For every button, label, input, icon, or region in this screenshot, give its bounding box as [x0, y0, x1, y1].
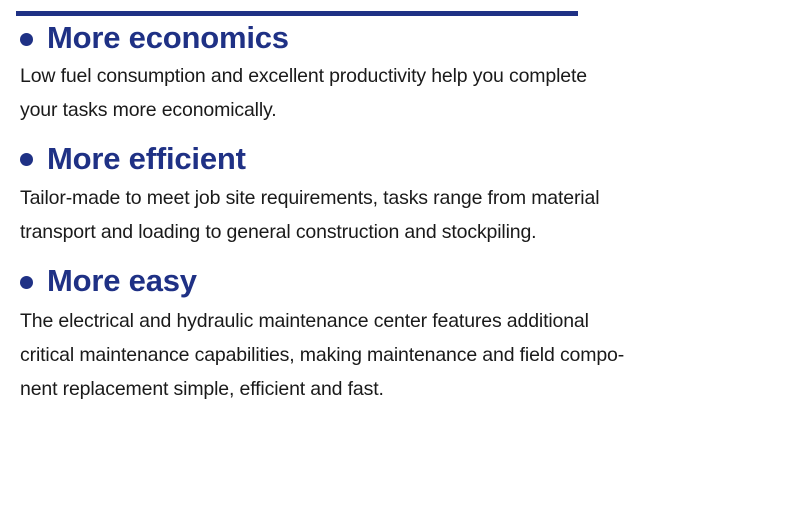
- bullet-point-icon: [20, 33, 33, 46]
- body-line: your tasks more economically.: [20, 93, 772, 127]
- heading-row: More efficient: [20, 143, 782, 176]
- section-more-efficient: More efficient Tailor-made to meet job s…: [0, 143, 800, 250]
- body-line: The electrical and hydraulic maintenance…: [20, 304, 772, 338]
- section-more-economics: More economics Low fuel consumption and …: [0, 22, 800, 127]
- section-body: Low fuel consumption and excellent produ…: [20, 59, 772, 127]
- section-body: The electrical and hydraulic maintenance…: [20, 304, 772, 406]
- body-line: transport and loading to general constru…: [20, 215, 772, 249]
- section-more-easy: More easy The electrical and hydraulic m…: [0, 265, 800, 406]
- heading-row: More economics: [20, 22, 782, 55]
- body-line: Low fuel consumption and excellent produ…: [20, 59, 772, 93]
- body-line: critical maintenance capabilities, makin…: [20, 338, 772, 372]
- section-heading: More easy: [47, 265, 197, 298]
- section-heading: More efficient: [47, 143, 246, 176]
- bullet-point-icon: [20, 153, 33, 166]
- content-column: More economics Low fuel consumption and …: [0, 22, 800, 406]
- top-divider-rule: [16, 11, 578, 16]
- body-line: nent replacement simple, efficient and f…: [20, 372, 772, 406]
- document-page: More economics Low fuel consumption and …: [0, 0, 800, 508]
- bullet-point-icon: [20, 276, 33, 289]
- section-heading: More economics: [47, 22, 289, 55]
- section-body: Tailor-made to meet job site requirement…: [20, 181, 772, 249]
- body-line: Tailor-made to meet job site requirement…: [20, 181, 772, 215]
- heading-row: More easy: [20, 265, 782, 298]
